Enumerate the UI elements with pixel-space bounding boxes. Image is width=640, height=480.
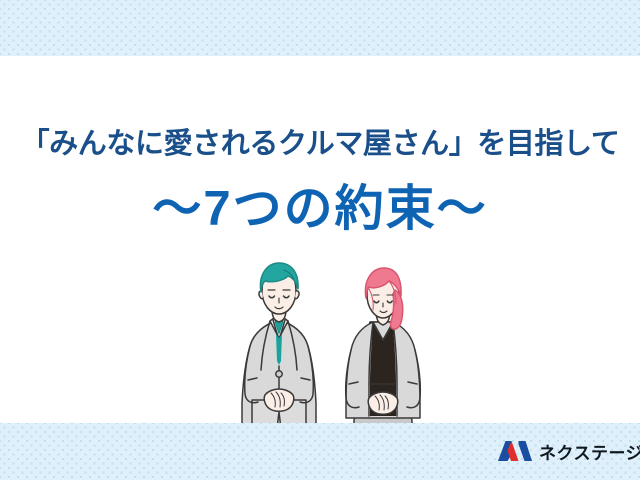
dotted-band-top xyxy=(0,0,640,56)
brand-name: ネクステージ xyxy=(539,444,640,464)
headline-line-2: ～7つの約束～ xyxy=(0,176,640,242)
male-staff-figure xyxy=(242,263,316,437)
female-staff-figure xyxy=(346,268,421,437)
headline-line-1: 「みんなに愛されるクルマ屋さん」を目指して xyxy=(0,124,640,164)
staff-illustration xyxy=(228,262,438,437)
banner-canvas: 「みんなに愛されるクルマ屋さん」を目指して ～7つの約束～ xyxy=(0,0,640,480)
nextage-n-mark-icon xyxy=(498,440,532,467)
nextage-logo: ネクステージ xyxy=(498,440,640,467)
